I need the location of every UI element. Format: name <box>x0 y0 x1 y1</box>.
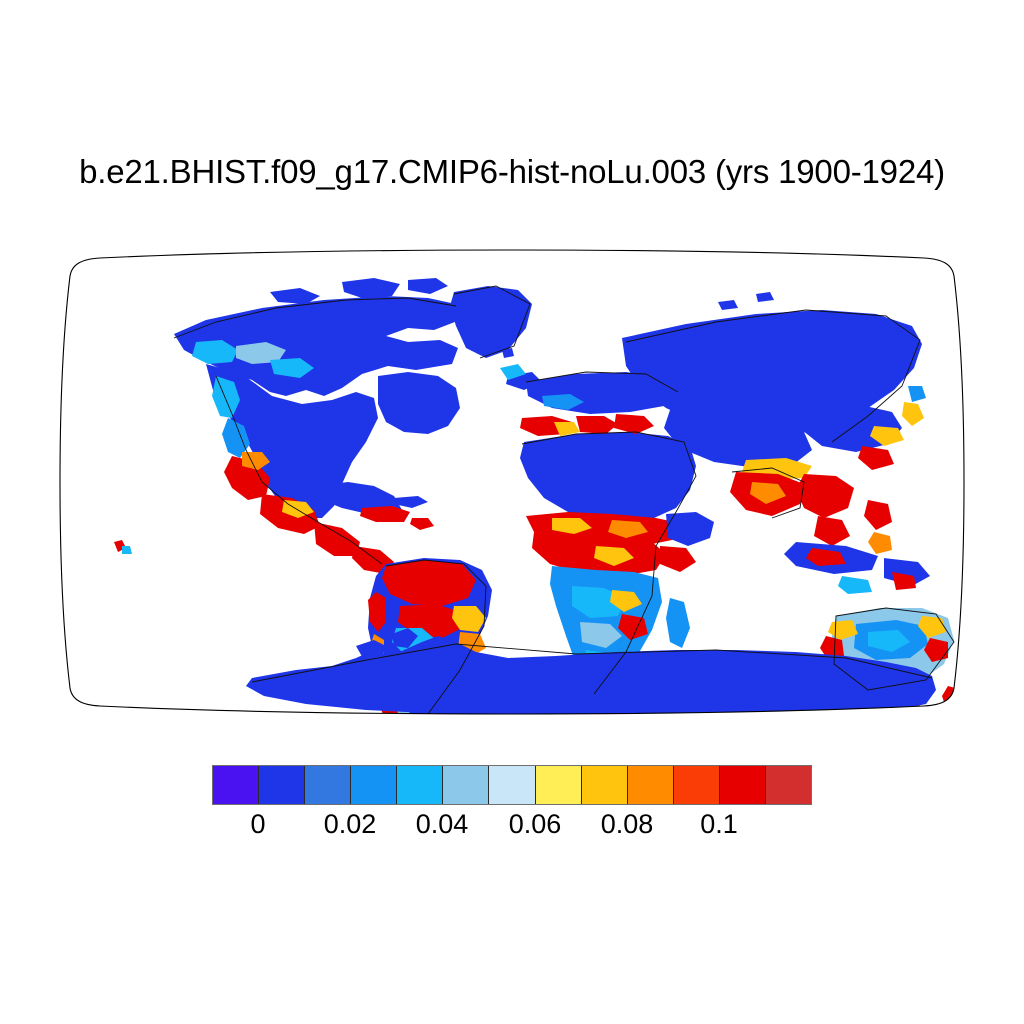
subtitle-row: RETRANSN_TO_NPOOL MAM gN/m^2/y <box>0 210 1024 242</box>
colorbar-tick-1: 0.02 <box>324 808 377 840</box>
figure-canvas: b.e21.BHIST.f09_g17.CMIP6-hist-noLu.003 … <box>0 0 1024 1024</box>
colorbar-cell-8 <box>582 766 628 804</box>
colorbar-tick-2: 0.04 <box>416 808 469 840</box>
colorbar-cell-7 <box>536 766 582 804</box>
colorbar-tick-labels: 00.020.040.060.080.1 <box>0 808 1024 848</box>
colorbar-cell-4 <box>397 766 443 804</box>
colorbar-cell-1 <box>259 766 305 804</box>
colorbar-cell-0 <box>213 766 259 804</box>
colorbar-cell-12 <box>766 766 811 804</box>
colorbar-cell-3 <box>351 766 397 804</box>
map-plot <box>56 246 968 718</box>
colorbar-cells <box>212 765 812 805</box>
page-title: b.e21.BHIST.f09_g17.CMIP6-hist-noLu.003 … <box>0 152 1024 192</box>
colorbar <box>212 765 812 805</box>
colorbar-tick-3: 0.06 <box>509 808 562 840</box>
colorbar-cell-5 <box>443 766 489 804</box>
colorbar-cell-2 <box>305 766 351 804</box>
colorbar-tick-0: 0 <box>250 808 265 840</box>
colorbar-tick-4: 0.08 <box>601 808 654 840</box>
colorbar-cell-10 <box>674 766 720 804</box>
colorbar-cell-11 <box>720 766 766 804</box>
colorbar-cell-6 <box>489 766 535 804</box>
map-svg <box>56 246 968 718</box>
colorbar-tick-5: 0.1 <box>700 808 738 840</box>
colorbar-cell-9 <box>628 766 674 804</box>
